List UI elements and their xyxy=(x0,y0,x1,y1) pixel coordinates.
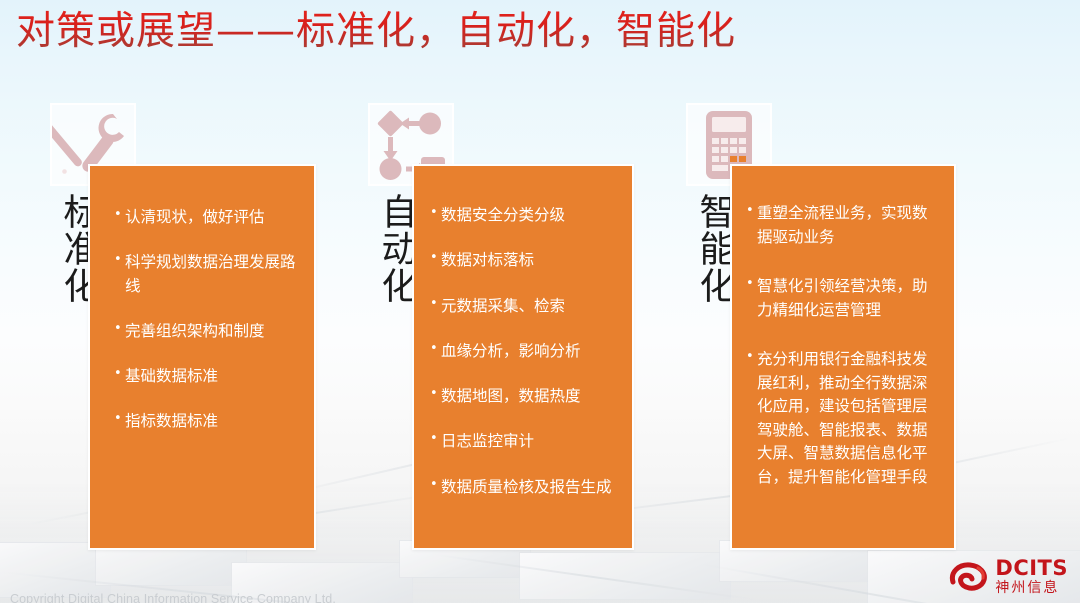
bullet-list-intelligence: 重塑全流程业务，实现数据驱动业务 智慧化引领经营决策，助力精细化运营管理 充分利… xyxy=(732,166,954,489)
list-item: 数据地图，数据热度 xyxy=(430,385,622,408)
list-item: 基础数据标准 xyxy=(114,365,300,388)
card-standardization: 认清现状，做好评估 科学规划数据治理发展路线 完善组织架构和制度 基础数据标准 … xyxy=(88,164,316,550)
list-item: 智慧化引领经营决策，助力精细化运营管理 xyxy=(746,275,942,322)
card-intelligence: 重塑全流程业务，实现数据驱动业务 智慧化引领经营决策，助力精细化运营管理 充分利… xyxy=(730,164,956,550)
logo-wordmark: DCITS 神州信息 xyxy=(995,558,1068,595)
column-label-intelligence: 智能化 xyxy=(692,193,734,304)
card-automation: 数据安全分类分级 数据对标落标 元数据采集、检索 血缘分析，影响分析 数据地图，… xyxy=(412,164,634,550)
list-item: 数据对标落标 xyxy=(430,249,622,272)
list-item: 元数据采集、检索 xyxy=(430,295,622,318)
list-item: 完善组织架构和制度 xyxy=(114,320,300,343)
page-title: 对策或展望——标准化，自动化，智能化 xyxy=(16,8,736,57)
list-item: 充分利用银行金融科技发展红利，推动全行数据深化应用，建设包括管理层驾驶舱、智能报… xyxy=(746,348,942,489)
logo-text-en: DCITS xyxy=(995,558,1068,579)
dcits-mark-icon xyxy=(948,560,988,594)
copyright-note: Copyright Digital China Information Serv… xyxy=(10,592,336,603)
list-item: 血缘分析，影响分析 xyxy=(430,340,622,363)
list-item: 数据质量检核及报告生成 xyxy=(430,476,622,499)
bullet-list-automation: 数据安全分类分级 数据对标落标 元数据采集、检索 血缘分析，影响分析 数据地图，… xyxy=(414,166,632,499)
list-item: 数据安全分类分级 xyxy=(430,204,622,227)
list-item: 指标数据标准 xyxy=(114,410,300,433)
company-logo: DCITS 神州信息 xyxy=(948,558,1068,595)
list-item: 科学规划数据治理发展路线 xyxy=(114,251,300,298)
list-item: 认清现状，做好评估 xyxy=(114,206,300,229)
list-item: 重塑全流程业务，实现数据驱动业务 xyxy=(746,202,942,249)
column-label-automation: 自动化 xyxy=(374,193,416,304)
slide-canvas: 对策或展望——标准化，自动化，智能化 标准化 认清现状，做好评估 xyxy=(0,0,1080,603)
list-item: 日志监控审计 xyxy=(430,430,622,453)
logo-text-cn: 神州信息 xyxy=(995,581,1068,595)
bullet-list-standardization: 认清现状，做好评估 科学规划数据治理发展路线 完善组织架构和制度 基础数据标准 … xyxy=(90,166,314,434)
